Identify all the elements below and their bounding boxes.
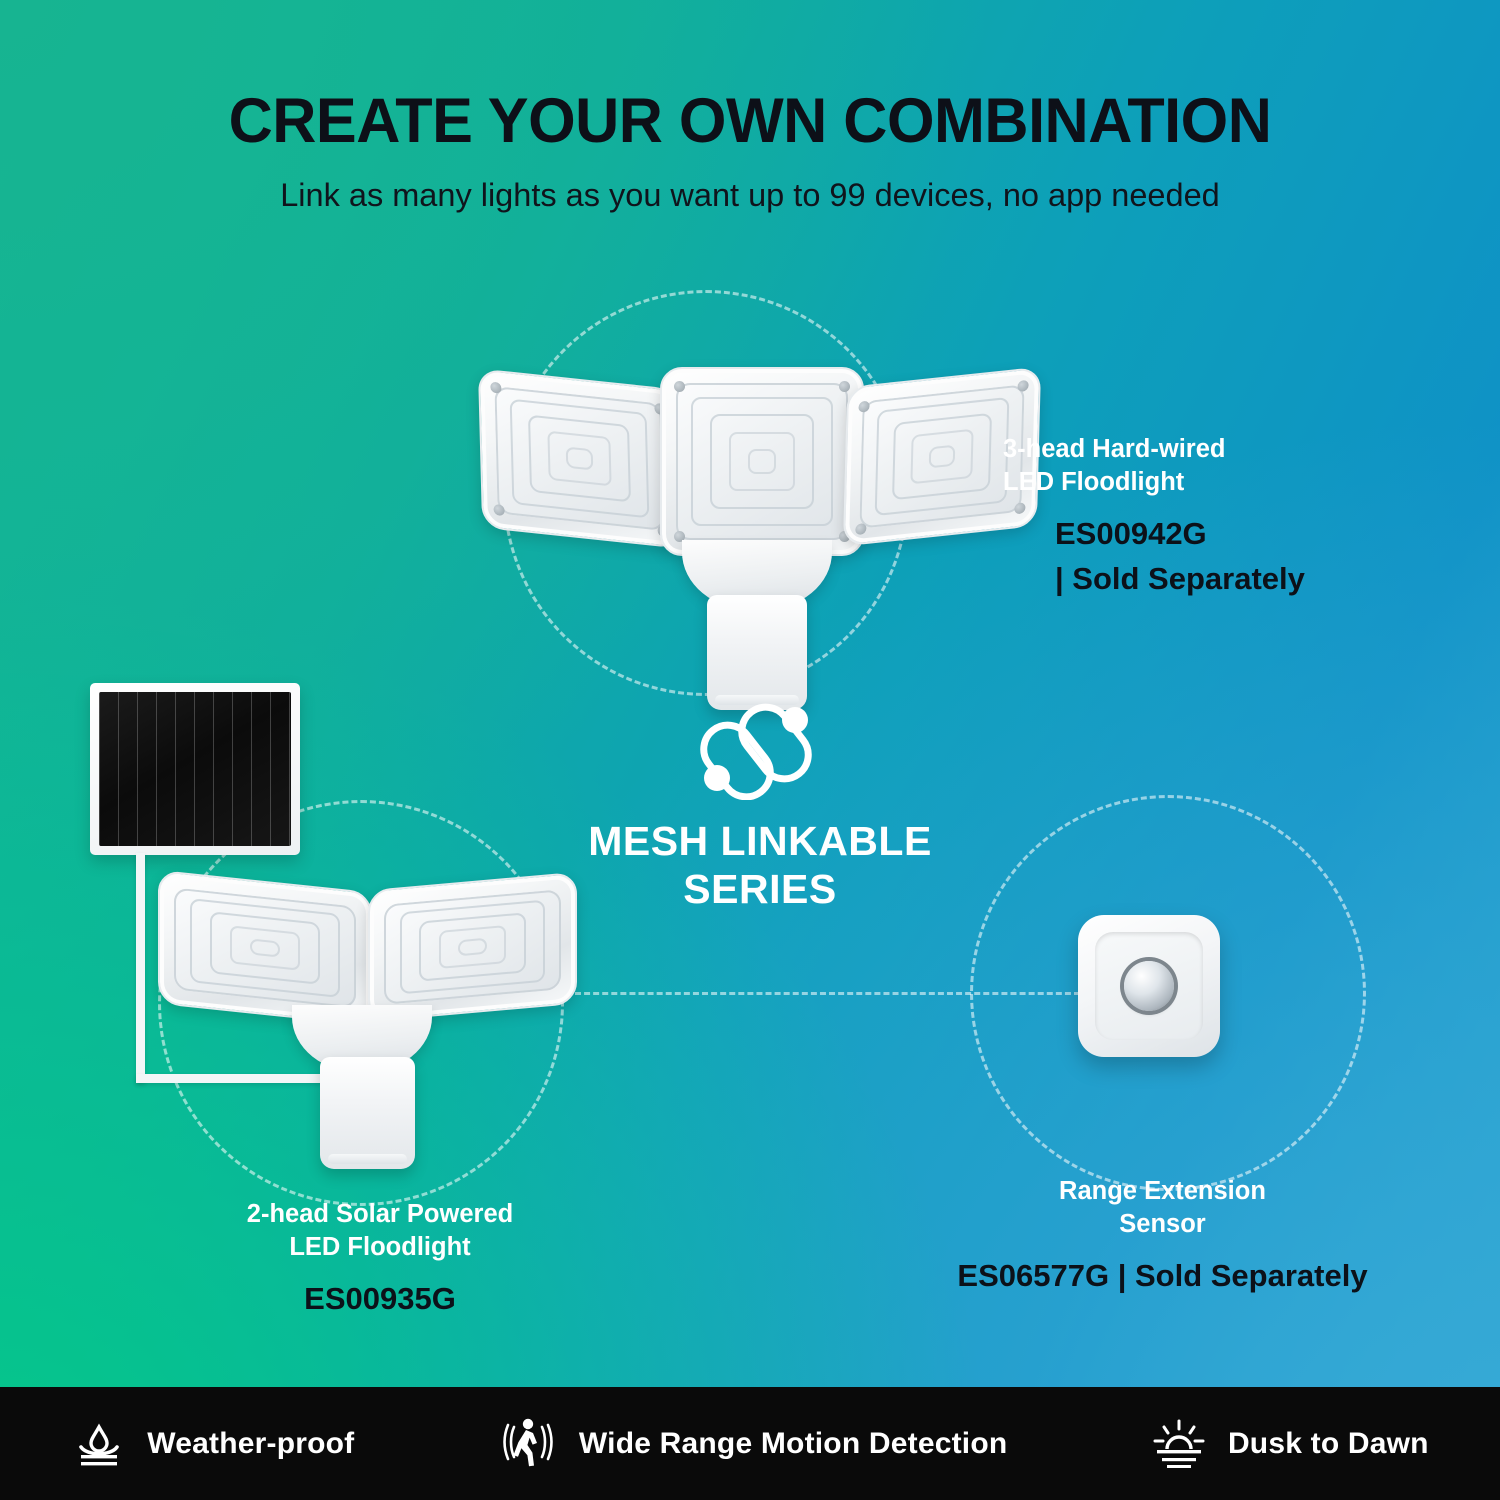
caption-name-line1: 2-head Solar Powered bbox=[175, 1198, 585, 1231]
lens-center bbox=[676, 383, 848, 540]
mesh-node-bottom bbox=[704, 765, 730, 791]
feature-label: Dusk to Dawn bbox=[1228, 1427, 1429, 1461]
solar-lens-right bbox=[384, 889, 561, 1004]
dashed-link-line bbox=[575, 992, 1080, 995]
walking-person-motion-icon bbox=[497, 1414, 559, 1474]
caption-sku-line1: ES06577G | Sold Separately bbox=[905, 1256, 1420, 1296]
solar-floodlight-head-right bbox=[368, 872, 577, 1022]
page-subtitle: Link as many lights as you want up to 99… bbox=[0, 178, 1500, 214]
solar-floodlight-head-left bbox=[158, 870, 372, 1026]
feature-bar: Weather-proof Wide Range Motion Detectio… bbox=[0, 1387, 1500, 1500]
caption-name-line1: 3-head Hard-wired bbox=[1003, 433, 1383, 466]
sensor-recess bbox=[1095, 932, 1203, 1040]
feature-weather-proof: Weather-proof bbox=[71, 1416, 354, 1472]
mesh-label-line2: SERIES bbox=[560, 866, 960, 914]
caption-floodlight-3head: 3-head Hard-wired LED Floodlight ES00942… bbox=[1003, 433, 1383, 599]
mesh-linkable-badge: MESH LINKABLE SERIES bbox=[560, 700, 960, 914]
page-title: CREATE YOUR OWN COMBINATION bbox=[23, 88, 1478, 154]
caption-sku-line2: | Sold Separately bbox=[1003, 559, 1383, 599]
floodlight-head-center bbox=[660, 367, 864, 556]
caption-name-line2: Sensor bbox=[905, 1208, 1420, 1241]
water-drop-icon bbox=[71, 1416, 127, 1472]
feature-label: Weather-proof bbox=[147, 1427, 354, 1461]
product-image-range-sensor bbox=[1078, 915, 1220, 1057]
caption-range-sensor: Range Extension Sensor ES06577G | Sold S… bbox=[905, 1175, 1420, 1297]
caption-name-line2: LED Floodlight bbox=[1003, 466, 1383, 499]
sensor-pir-dome bbox=[1124, 961, 1174, 1011]
header: CREATE YOUR OWN COMBINATION Link as many… bbox=[0, 88, 1500, 214]
caption-sku-line1: ES00935G bbox=[175, 1279, 585, 1319]
floodlight-head-left bbox=[478, 368, 681, 548]
caption-name-line1: Range Extension bbox=[905, 1175, 1420, 1208]
caption-name-line2: LED Floodlight bbox=[175, 1231, 585, 1264]
lens-right bbox=[859, 384, 1024, 528]
lens-left bbox=[494, 386, 664, 531]
sunrise-icon bbox=[1150, 1416, 1208, 1472]
mesh-label-line1: MESH LINKABLE bbox=[560, 818, 960, 866]
feature-motion-detection: Wide Range Motion Detection bbox=[497, 1414, 1007, 1474]
solar-lens-left bbox=[174, 887, 356, 1008]
product-image-floodlight-2head bbox=[140, 865, 605, 1185]
caption-sku-line1: ES00942G bbox=[1003, 514, 1383, 554]
pir-motion-sensor-module bbox=[707, 595, 807, 710]
feature-dusk-to-dawn: Dusk to Dawn bbox=[1150, 1416, 1429, 1472]
caption-floodlight-2head: 2-head Solar Powered LED Floodlight ES00… bbox=[175, 1198, 585, 1320]
solar-cells bbox=[99, 692, 291, 846]
solar-pir-motion-sensor-module bbox=[320, 1057, 415, 1169]
mesh-node-top bbox=[782, 707, 808, 733]
infographic-canvas: CREATE YOUR OWN COMBINATION Link as many… bbox=[0, 0, 1500, 1500]
product-image-floodlight-3head bbox=[470, 355, 1030, 685]
feature-label: Wide Range Motion Detection bbox=[579, 1427, 1007, 1461]
solar-panel bbox=[90, 683, 300, 855]
mesh-link-icon bbox=[695, 700, 825, 800]
